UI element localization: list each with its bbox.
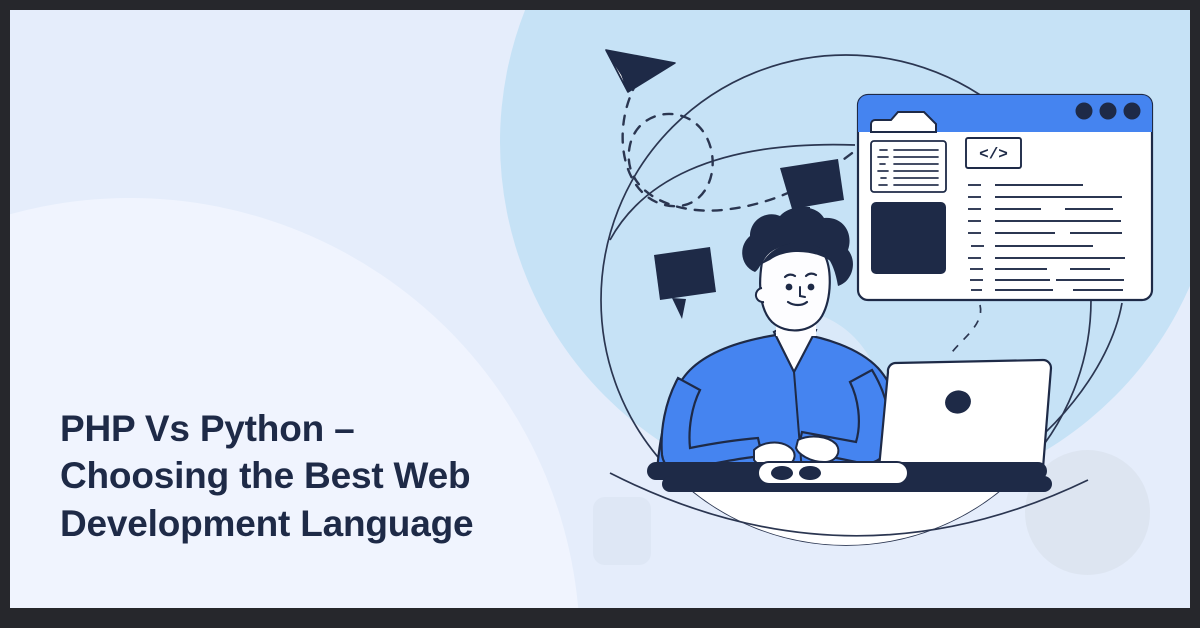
person-eye — [808, 284, 815, 291]
window-dot — [1076, 103, 1093, 120]
laptop-lid — [879, 360, 1051, 468]
banner-title-line-1: PHP Vs Python – — [60, 405, 605, 452]
banner-title-line-2: Choosing the Best Web — [60, 452, 605, 499]
touchbar-button — [771, 466, 793, 480]
window-dot — [1100, 103, 1117, 120]
banner-title: PHP Vs Python – Choosing the Best Web De… — [60, 405, 605, 547]
content-dark-panel — [871, 202, 946, 274]
banner-title-line-3: Development Language — [60, 500, 605, 547]
speech-bubble-lower-icon — [654, 247, 716, 319]
code-badge-text: </> — [979, 146, 1008, 164]
paper-plane-icon — [606, 50, 675, 92]
person-eye — [786, 284, 793, 291]
banner-frame: </> — [10, 10, 1190, 608]
window-connector-line-2 — [950, 305, 981, 355]
touchbar-button — [799, 466, 821, 480]
window-dot — [1124, 103, 1141, 120]
